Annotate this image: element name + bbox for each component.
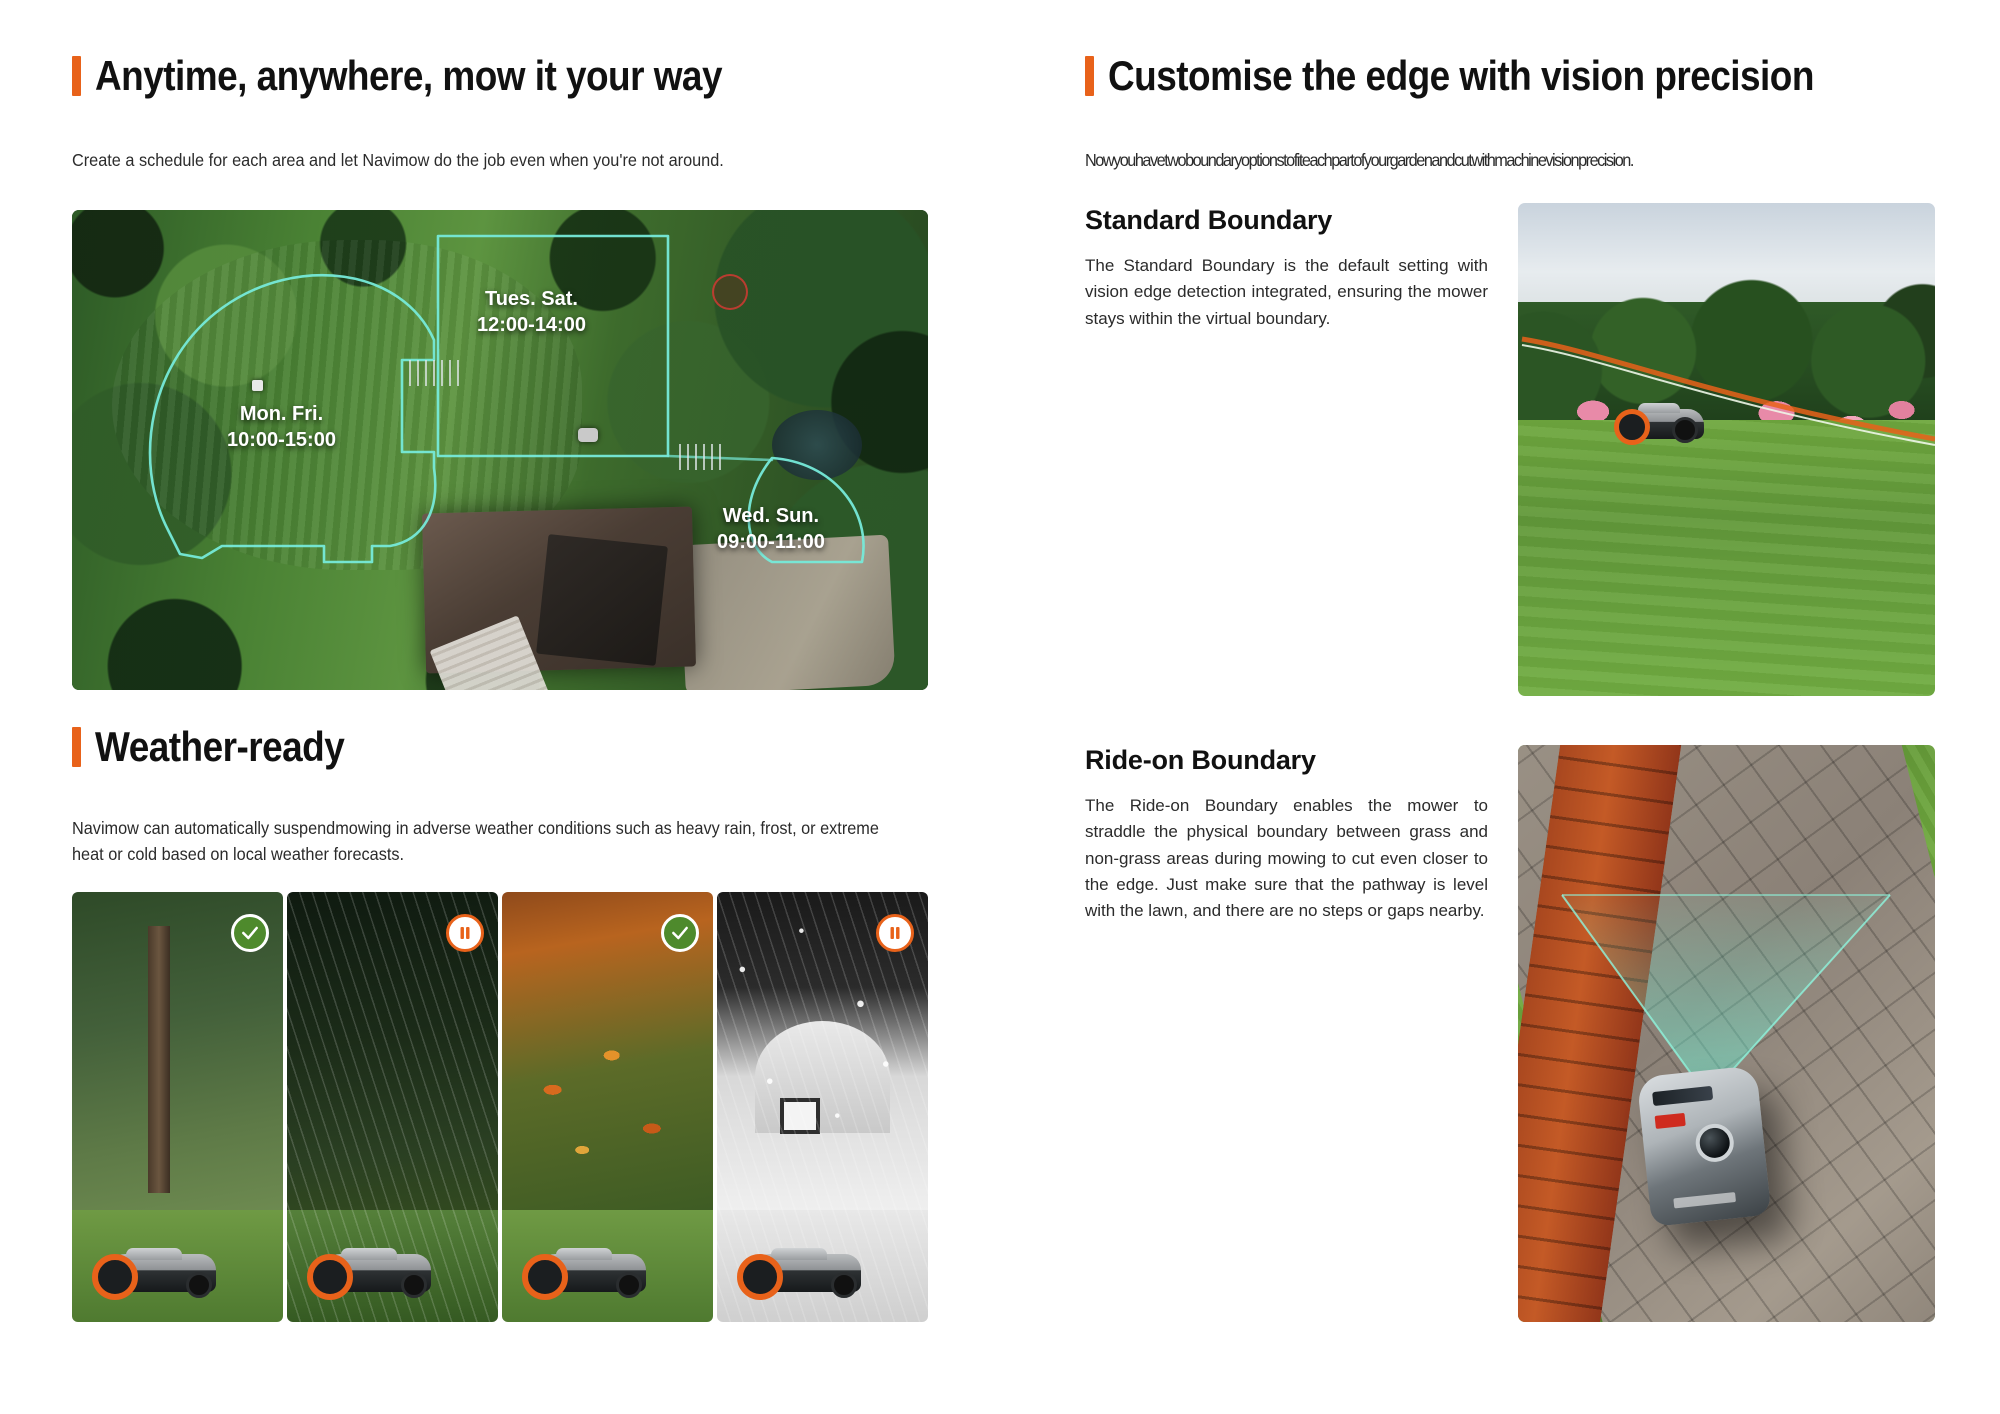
mower-camera-icon [1694, 1122, 1736, 1164]
customise-heading: Customise the edge with vision precision [1108, 52, 1814, 100]
pause-circle-icon [876, 914, 914, 952]
aerial-garden-schedule-map[interactable]: Mon. Fri. 10:00-15:00 Tues. Sat. 12:00-1… [72, 210, 928, 690]
tile-tree-trunk [148, 926, 170, 1193]
list-item[interactable] [717, 892, 928, 1322]
list-item[interactable] [502, 892, 713, 1322]
weather-heading: Weather-ready [95, 723, 344, 771]
zone-c-time: 09:00-11:00 [717, 530, 825, 556]
right-column: Customise the edge with vision precision… [1085, 0, 1935, 1414]
mower-brand-label [1673, 1192, 1736, 1208]
zone-b-days: Tues. Sat. [477, 287, 586, 313]
mower-sprite [303, 1244, 433, 1300]
zone-b-time: 12:00-14:00 [477, 313, 586, 339]
accent-bar-icon [72, 727, 81, 767]
accent-bar-icon [72, 56, 81, 96]
schedule-heading: Anytime, anywhere, mow it your way [95, 52, 722, 100]
standard-boundary-photo[interactable] [1518, 203, 1935, 696]
mower-sprite [88, 1244, 218, 1300]
schedule-zone-a-label: Mon. Fri. 10:00-15:00 [227, 402, 336, 453]
check-circle-icon [231, 914, 269, 952]
mower-sprite [733, 1244, 863, 1300]
customise-heading-row: Customise the edge with vision precision [1085, 52, 1910, 100]
schedule-heading-row: Anytime, anywhere, mow it your way [72, 52, 807, 100]
accent-bar-icon [1085, 56, 1094, 96]
ride-on-boundary-photo[interactable] [1518, 745, 1935, 1322]
pause-circle-icon [446, 914, 484, 952]
zone-a-days: Mon. Fri. [227, 402, 336, 428]
mower-sprite [518, 1244, 648, 1300]
mower-stop-button [1655, 1113, 1686, 1129]
schedule-lead-text: Create a schedule for each area and let … [72, 147, 853, 173]
standard-boundary-body: The Standard Boundary is the default set… [1085, 253, 1488, 332]
customise-lead-text: Nowyouhavetwoboundaryoptionstofiteachpar… [1085, 147, 1857, 173]
weather-heading-row: Weather-ready [72, 723, 378, 771]
virtual-boundary-overlay [72, 210, 928, 690]
weather-tile-strip [72, 892, 928, 1322]
ride-on-boundary-body: The Ride-on Boundary enables the mower t… [1085, 793, 1488, 925]
schedule-zone-c-label: Wed. Sun. 09:00-11:00 [717, 504, 825, 555]
virtual-fence-overlay [1518, 203, 1935, 696]
left-column: Anytime, anywhere, mow it your way Creat… [72, 0, 928, 1414]
vision-cone-overlay [1518, 745, 1935, 1322]
mower-sprite [1612, 399, 1704, 445]
list-item[interactable] [287, 892, 498, 1322]
mower-sprite [1636, 1065, 1771, 1227]
zone-a-time: 10:00-15:00 [227, 428, 336, 454]
zone-c-days: Wed. Sun. [717, 504, 825, 530]
standard-boundary-title: Standard Boundary [1085, 205, 1332, 236]
mower-control-panel [1652, 1086, 1713, 1106]
list-item[interactable] [72, 892, 283, 1322]
check-circle-icon [661, 914, 699, 952]
weather-lead-text: Navimow can automatically suspendmowing … [72, 815, 890, 868]
schedule-zone-b-label: Tues. Sat. 12:00-14:00 [477, 287, 586, 338]
ride-on-boundary-title: Ride-on Boundary [1085, 745, 1316, 776]
marketing-page: Anytime, anywhere, mow it your way Creat… [0, 0, 2000, 1414]
